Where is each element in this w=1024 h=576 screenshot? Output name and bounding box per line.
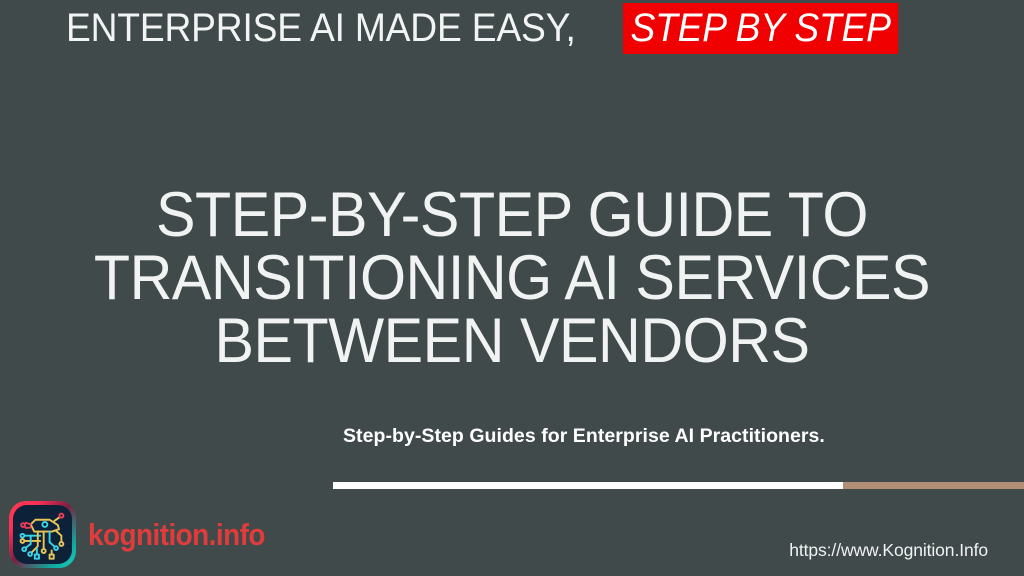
eyebrow-highlight-badge: STEP BY STEP <box>623 3 898 54</box>
logo-inner-panel <box>13 505 72 564</box>
eyebrow-lead-text: ENTERPRISE AI MADE EASY, <box>66 8 576 48</box>
page-title-line-3: BETWEEN VENDORS <box>31 310 994 373</box>
divider <box>333 482 1024 489</box>
slide-subtitle: Step-by-Step Guides for Enterprise AI Pr… <box>343 424 993 448</box>
circuit-board-chip-icon <box>9 501 76 568</box>
page-title: STEP-BY-STEP GUIDE TO TRANSITIONING AI S… <box>0 184 1024 373</box>
brand-logo-lockup: kognition.info <box>9 498 285 570</box>
presentation-slide: ENTERPRISE AI MADE EASY, STEP BY STEP ST… <box>0 0 1024 576</box>
footer-url: https://www.Kognition.Info <box>789 540 988 561</box>
divider-primary-segment <box>333 482 843 489</box>
brand-wordmark: kognition.info <box>88 519 265 550</box>
slide-eyebrow-header: ENTERPRISE AI MADE EASY, STEP BY STEP <box>66 0 919 56</box>
divider-secondary-segment <box>843 482 1024 489</box>
page-title-line-2: TRANSITIONING AI SERVICES <box>31 247 994 310</box>
page-title-line-1: STEP-BY-STEP GUIDE TO <box>31 184 994 247</box>
